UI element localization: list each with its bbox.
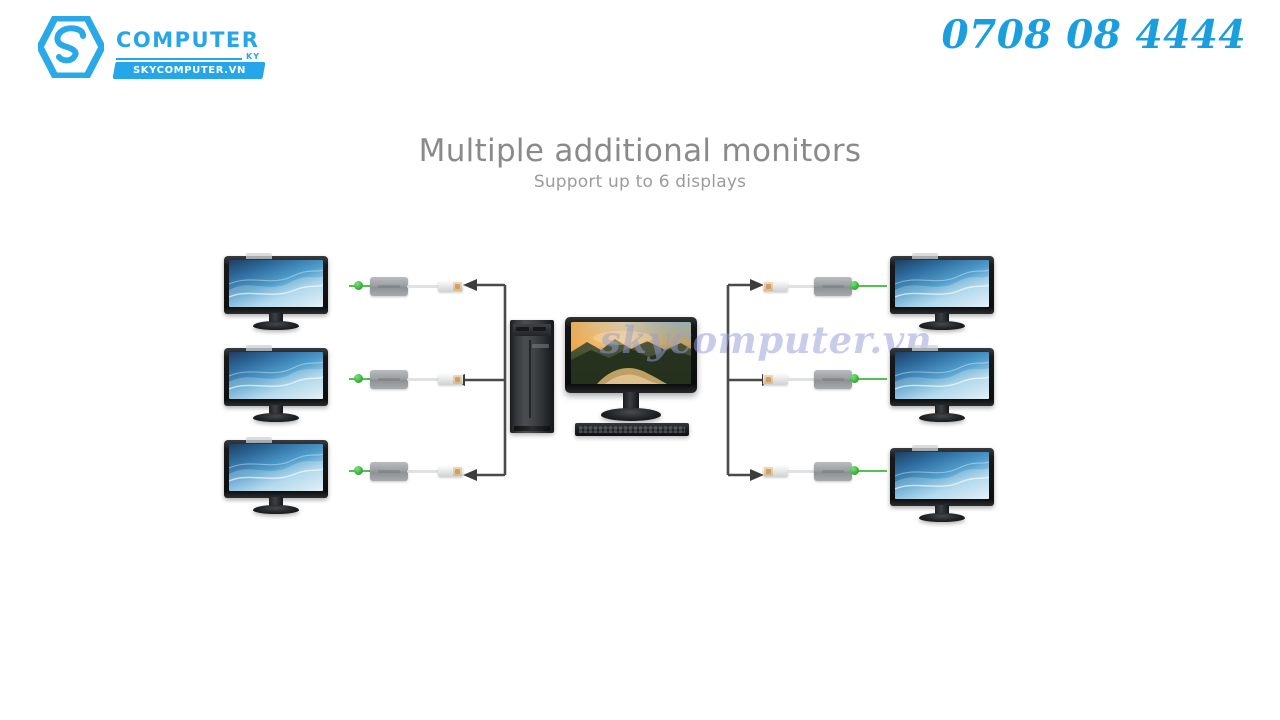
tower-brand-label [532,344,549,348]
monitor-bezel [224,348,328,406]
brand-logo[interactable]: COMPUTER KY SKYCOMPUTER.VN [38,12,258,82]
diagram-canvas: COMPUTER KY SKYCOMPUTER.VN 0708 08 4444 … [0,0,1280,720]
monitor-top-notch [912,345,938,351]
usb-a-connector-1 [438,281,463,292]
monitor-bezel [224,256,328,314]
monitor-screen [895,452,989,499]
monitor-stand-base [253,505,299,514]
monitor-bezel [890,256,994,314]
monitor-screen [229,444,323,491]
usb-display-adapter-6[interactable] [814,462,852,481]
usb-a-connector-3 [438,466,463,477]
page-title: Multiple additional monitors [0,133,1280,169]
primary-monitor-screen [571,322,691,384]
usb-display-adapter-1[interactable] [370,277,408,296]
usb-display-adapter-4[interactable] [814,277,852,296]
monitor-screen [895,260,989,307]
monitor-display-6[interactable] [890,448,994,522]
monitor-stand-base [919,321,965,330]
tower-feet [514,426,550,431]
usb-a-connector-2 [438,374,463,385]
monitor-display-5[interactable] [890,348,994,422]
monitor-stand-base [253,413,299,422]
usb-contact-1 [453,282,462,291]
usb-display-adapter-3[interactable] [370,462,408,481]
usb-contact-3 [453,467,462,476]
usb-a-connector-4 [763,281,788,292]
monitor-display-1[interactable] [224,256,328,330]
keyboard[interactable] [575,423,689,436]
tower-drive-bay [516,327,529,331]
contact-phone-number[interactable]: 0708 08 4444 [941,16,1246,55]
sky-s-monogram-icon [38,16,104,78]
keyboard-keys [579,426,685,433]
monitor-top-notch [246,345,272,351]
arrowhead-right-top [750,279,764,291]
arrowhead-right-bottom [750,469,764,481]
cable-endpoint-2 [354,374,363,383]
cable-endpoint-4 [850,281,859,290]
usb-a-connector-5 [763,374,788,385]
monitor-top-notch [246,253,272,259]
monitor-screen [229,260,323,307]
tower-panel-seam [529,340,531,418]
usb-display-adapter-2[interactable] [370,370,408,389]
page-subtitle: Support up to 6 displays [0,172,1280,192]
tower-port-bay [533,327,546,331]
usb-contact-5 [764,375,773,384]
arrowhead-left-top [463,279,477,291]
right-branch-trunk [710,275,770,490]
arrowhead-left-bottom [463,469,477,481]
monitor-screen [895,352,989,399]
monitor-display-2[interactable] [224,348,328,422]
monitor-top-notch [912,253,938,259]
logo-domain-text: SKYCOMPUTER.VN [133,65,246,76]
monitor-top-notch [246,437,272,443]
usb-contact-6 [764,467,773,476]
monitor-screen [229,352,323,399]
monitor-stand-base [919,413,965,422]
usb-contact-4 [764,282,773,291]
usb-cable-1 [407,285,441,288]
logo-domain-bar: SKYCOMPUTER.VN [113,62,266,79]
monitor-stand-base [253,321,299,330]
monitor-bezel [890,448,994,506]
logo-brand-word: COMPUTER [116,30,259,51]
central-computer-group[interactable] [505,315,705,440]
cable-endpoint-1 [354,281,363,290]
usb-cable-5 [787,378,817,381]
cable-endpoint-3 [354,466,363,475]
usb-cable-4 [787,285,817,288]
usb-contact-2 [453,375,462,384]
monitor-top-notch [912,445,938,451]
cable-endpoint-5 [850,374,859,383]
monitor-bezel [890,348,994,406]
usb-display-adapter-5[interactable] [814,370,852,389]
monitor-stand-base [919,513,965,522]
logo-wordmark: COMPUTER KY SKYCOMPUTER.VN [108,14,264,76]
usb-a-connector-6 [763,466,788,477]
primary-monitor-base [601,408,661,421]
usb-cable-3 [407,470,441,473]
desktop-tower[interactable] [510,320,554,433]
cable-endpoint-6 [850,466,859,475]
logo-brand-suffix: KY [246,52,260,61]
usb-cable-2 [407,378,441,381]
logo-divider [116,58,242,60]
monitor-display-4[interactable] [890,256,994,330]
primary-monitor[interactable] [565,317,697,393]
usb-cable-6 [787,470,817,473]
monitor-display-3[interactable] [224,440,328,514]
monitor-bezel [224,440,328,498]
